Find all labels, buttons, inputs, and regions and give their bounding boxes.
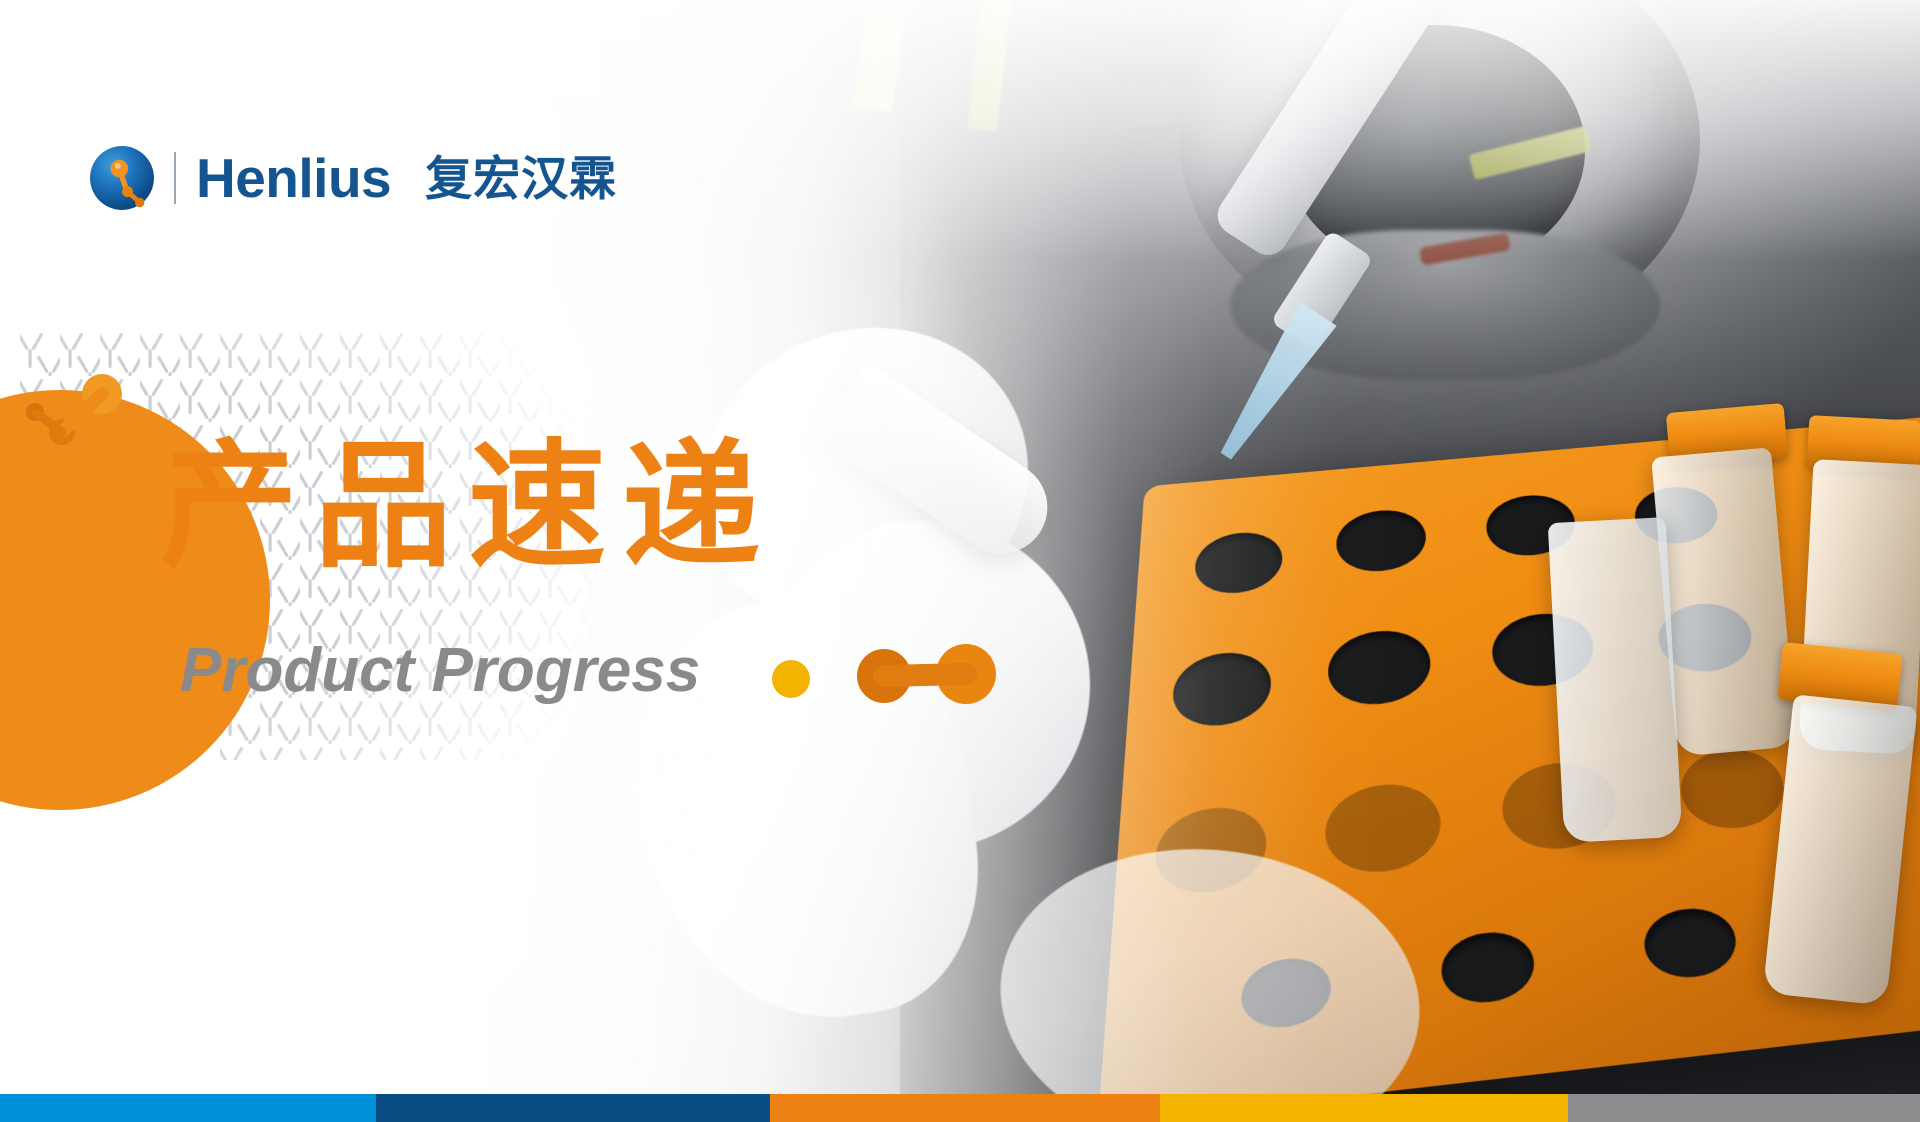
molecule-decor-large bbox=[850, 640, 1000, 710]
brand-logo[interactable]: Henlius 复宏汉霖 bbox=[88, 142, 617, 214]
segment-light-blue bbox=[0, 1094, 376, 1122]
bottom-color-bar bbox=[0, 1094, 1920, 1122]
slide-root: Henlius 复宏汉霖 产品速递 Product Progress bbox=[0, 0, 1920, 1122]
segment-dark-blue bbox=[376, 1094, 770, 1122]
amber-dot-decor bbox=[772, 660, 810, 698]
logo-chinese-name: 复宏汉霖 bbox=[425, 155, 617, 202]
slide-title-chinese: 产品速递 bbox=[160, 438, 776, 576]
segment-orange bbox=[770, 1094, 1160, 1122]
henlius-logo-mark-icon bbox=[88, 144, 156, 212]
segment-amber bbox=[1160, 1094, 1568, 1122]
logo-divider bbox=[174, 152, 176, 204]
logo-wordmark: Henlius bbox=[196, 151, 391, 206]
segment-gray bbox=[1568, 1094, 1920, 1122]
molecule-decor-small bbox=[24, 370, 134, 448]
top-white-fade bbox=[0, 0, 1920, 260]
slide-subtitle-english: Product Progress bbox=[180, 640, 700, 702]
